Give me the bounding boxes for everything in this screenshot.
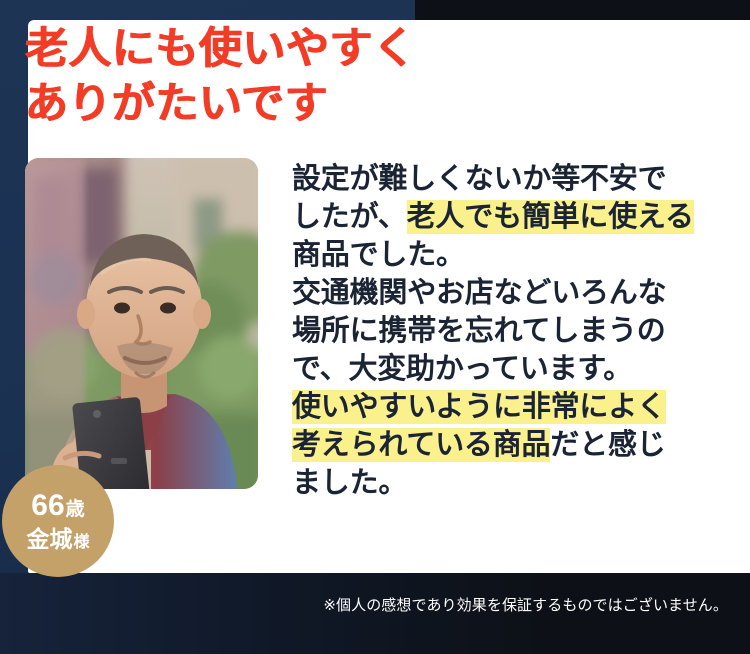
badge-age-suffix: 歳 <box>66 500 85 519</box>
plain-text: 交通機関やお店などいろんな <box>292 277 666 309</box>
testimonial-banner: 老人にも使いやすく ありがたいです <box>0 0 750 654</box>
testimonial-text: 設定が難しくないか等不安でしたが、老人でも簡単に使える商品でした。交通機関やお店… <box>292 160 697 502</box>
customer-age-name-badge: 66歳 金城様 <box>2 465 114 577</box>
disclaimer-note: ※個人の感想であり効果を保証するものではございません。 <box>323 594 728 615</box>
plain-text: 場所に携帯を忘れてしまうの <box>292 315 666 347</box>
badge-age-number: 66 <box>31 491 64 521</box>
plain-text: 商品でした。 <box>292 239 465 271</box>
badge-age: 66歳 <box>31 491 84 521</box>
plain-text: ました。 <box>292 467 407 499</box>
testimonial-line: 使いやすいように非常によく <box>292 388 697 426</box>
testimonial-line: 場所に携帯を忘れてしまうの <box>292 312 697 350</box>
plain-text: 設定が難しくないか等不安で <box>292 163 666 195</box>
page-title: 老人にも使いやすく ありがたいです <box>25 22 417 131</box>
testimonial-line: で、大変助かっています。 <box>292 350 697 388</box>
plain-text: したが、 <box>292 201 407 233</box>
badge-name-text: 金城 <box>26 528 72 551</box>
testimonial-line: 交通機関やお店などいろんな <box>292 274 697 312</box>
testimonial-line: ました。 <box>292 464 697 502</box>
photo-illustration <box>25 158 258 489</box>
testimonial-line: 商品でした。 <box>292 236 697 274</box>
badge-name-suffix: 様 <box>73 535 89 551</box>
customer-photo <box>25 158 258 489</box>
highlighted-text: 使いやすいように非常によく <box>292 390 666 424</box>
plain-text: だと感じ <box>550 429 665 461</box>
highlighted-text: 老人でも簡単に使える <box>407 200 694 234</box>
badge-name: 金城様 <box>26 528 89 551</box>
testimonial-line: したが、老人でも簡単に使える <box>292 198 697 236</box>
testimonial-line: 考えられている商品だと感じ <box>292 426 697 464</box>
plain-text: で、大変助かっています。 <box>292 353 632 385</box>
testimonial-line: 設定が難しくないか等不安で <box>292 160 697 198</box>
highlighted-text: 考えられている商品 <box>292 428 550 462</box>
